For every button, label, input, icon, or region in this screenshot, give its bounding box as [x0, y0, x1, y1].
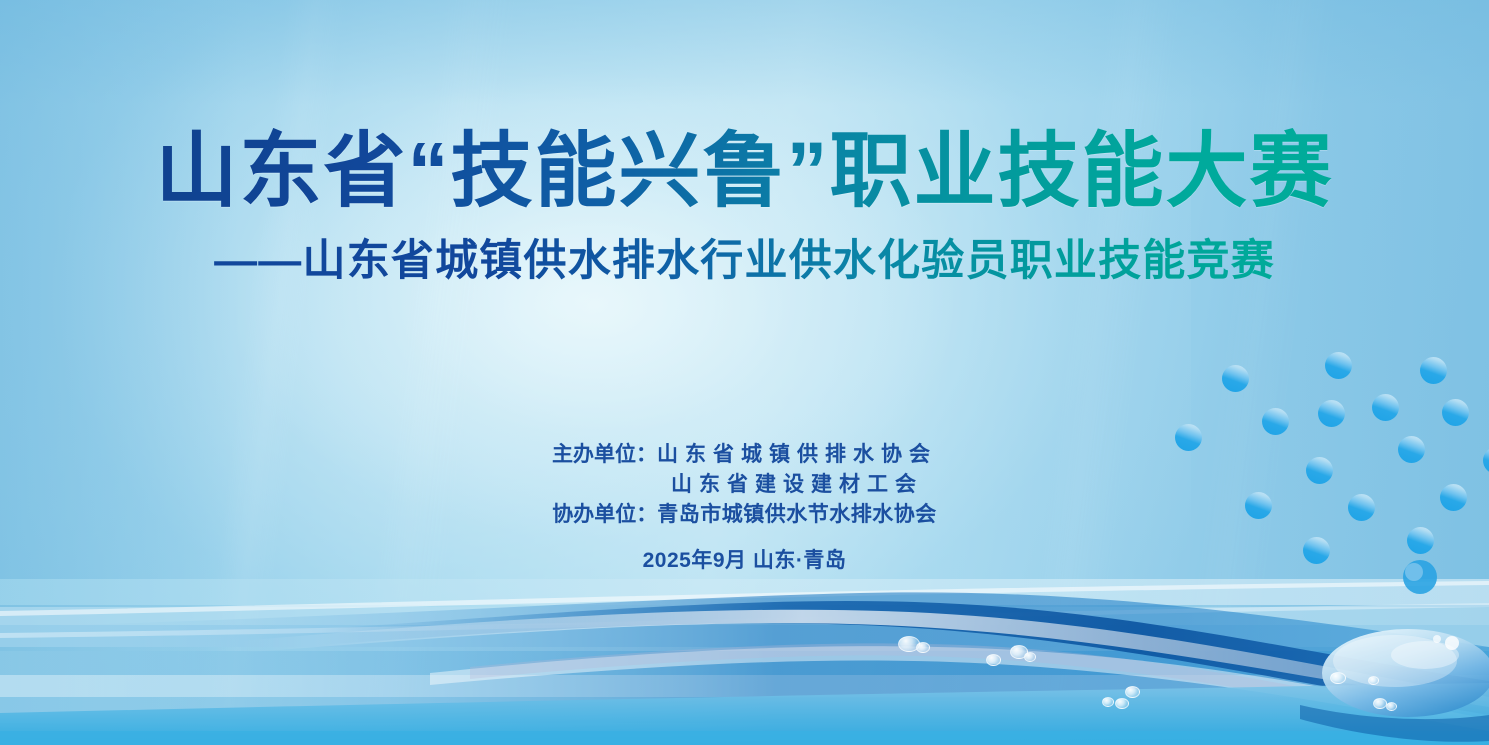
water-bubble — [986, 654, 1001, 666]
co-host-name: 青岛市城镇供水节水排水协会 — [657, 503, 937, 526]
host-line-2: 山东省建设建材工会 — [0, 470, 1489, 500]
water-bubble — [916, 642, 930, 653]
poster-canvas: 山东省“技能兴鲁”职业技能大赛 ——山东省城镇供水排水行业供水化验员职业技能竞赛… — [0, 0, 1489, 745]
water-bubble — [1368, 676, 1379, 685]
host-name-primary: 山东省城镇供排水协会 — [657, 443, 937, 466]
title-block: 山东省“技能兴鲁”职业技能大赛 ——山东省城镇供水排水行业供水化验员职业技能竞赛 — [0, 128, 1489, 286]
droplet-dot — [1420, 357, 1447, 384]
host-label: 主办单位： — [552, 443, 657, 466]
host-label-spacer — [566, 473, 671, 496]
co-host-label: 协办单位： — [552, 503, 657, 526]
droplet-dot — [1372, 394, 1399, 421]
co-host-line: 协办单位：青岛市城镇供水节水排水协会 — [0, 500, 1489, 530]
organizer-block: 主办单位：山东省城镇供排水协会 山东省建设建材工会 协办单位：青岛市城镇供水节水… — [0, 440, 1489, 574]
water-bubble — [1373, 698, 1387, 709]
host-line-1: 主办单位：山东省城镇供排水协会 — [0, 440, 1489, 470]
water-bubble — [1102, 697, 1114, 707]
wave-svg — [0, 555, 1489, 745]
droplet-dot — [1262, 408, 1289, 435]
water-bubble — [1024, 652, 1036, 662]
water-bubble — [1115, 698, 1129, 709]
droplet-dot — [1325, 352, 1352, 379]
date-location-text: 2025年9月 山东·青岛 — [0, 544, 1489, 574]
water-wave-graphic — [0, 555, 1489, 745]
water-bubble — [1330, 672, 1346, 684]
page-title: 山东省“技能兴鲁”职业技能大赛 — [155, 128, 1333, 217]
page-subtitle: ——山东省城镇供水排水行业供水化验员职业技能竞赛 — [214, 237, 1275, 286]
droplet-dot — [1442, 399, 1469, 426]
water-bubble — [1125, 686, 1140, 698]
host-name-secondary: 山东省建设建材工会 — [671, 473, 923, 496]
water-bubble — [1386, 702, 1397, 711]
droplet-dot — [1222, 365, 1249, 392]
droplet-dot — [1318, 400, 1345, 427]
